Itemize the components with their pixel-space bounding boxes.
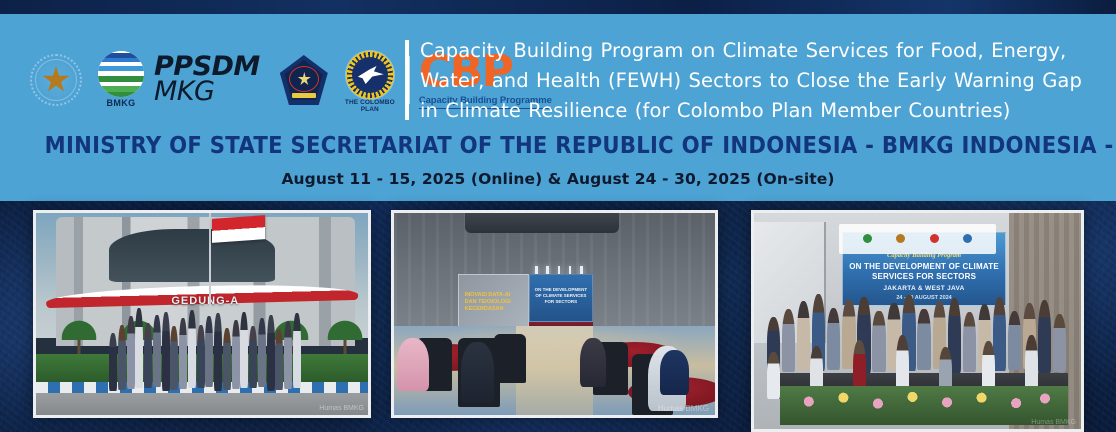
photo-watermark: Humas BMKG (658, 404, 709, 413)
organizers-line: MINISTRY OF STATE SECRETARIAT OF THE REP… (45, 133, 1072, 159)
stage-backdrop: ON THE DEVELOPMENT OF CLIMATE SERVICES F… (529, 274, 593, 322)
photo-3-content: Capacity Building Program ON THE DEVELOP… (754, 213, 1081, 429)
colombo-bird-icon (358, 66, 384, 84)
projection-screen-text: INOVASI DATA-AI DAN TEKNOLOGI KECERDASAN (465, 292, 513, 313)
photo-1-content: GEDUNG-A Humas BMKG (36, 213, 368, 415)
banner-headline: ON THE DEVELOPMENT OF CLIMATE SERVICES F… (843, 262, 1005, 282)
seated-participant (580, 338, 606, 386)
banner-headline-line2: SERVICES FOR SECTORS (872, 272, 976, 281)
bmkg-logo-label: BMKG (98, 98, 144, 108)
photo-watermark: Humas BMKG (1031, 419, 1076, 426)
banner-logo-icon (963, 234, 972, 243)
banner-location: JAKARTA & WEST JAVA (843, 285, 1005, 292)
colombo-plan-logo-icon: THE COLOMBO PLAN (344, 51, 396, 109)
banner-logo-icon (930, 234, 939, 243)
seated-participant (660, 350, 689, 394)
seated-participant (461, 342, 493, 403)
banner-logo-icon (896, 234, 905, 243)
road (36, 393, 368, 415)
ceiling-recess (465, 213, 619, 233)
group-of-participants (109, 310, 302, 391)
chair (494, 334, 526, 382)
colombo-plan-label: THE COLOMBO PLAN (341, 99, 399, 113)
bmkg-pentagon-logo-icon (280, 55, 328, 105)
stage-flower-arrangement (780, 386, 1068, 425)
bmkg-circular-logo-icon: BMKG (98, 51, 144, 109)
ppsdm-line2: MKG (154, 80, 260, 105)
banner-title: Capacity Building Program on Climate Ser… (420, 36, 1092, 126)
ppsdm-mkg-wordmark: PPSDM MKG (154, 55, 260, 105)
bmkg-disc (98, 51, 144, 97)
colombo-inner-disc (352, 57, 388, 93)
photo-group-gedung-a: GEDUNG-A Humas BMKG (33, 210, 371, 418)
photo-stage-group: Capacity Building Program ON THE DEVELOP… (751, 210, 1084, 432)
banner-logo-strip (839, 224, 996, 254)
banner-logo-icon (863, 234, 872, 243)
seated-participant (397, 338, 429, 391)
projection-screen: INOVASI DATA-AI DAN TEKNOLOGI KECERDASAN (458, 274, 529, 329)
pentagon-banner-bar (292, 93, 316, 98)
ministry-state-secretariat-seal-icon (30, 54, 82, 106)
event-banner: BMKG PPSDM MKG THE COLOMBO PLAN CBP Capa… (0, 0, 1116, 432)
title-divider-bar (405, 40, 409, 120)
building-sign: GEDUNG-A (149, 292, 262, 310)
photo-conference-hall: INOVASI DATA-AI DAN TEKNOLOGI KECERDASAN… (391, 210, 718, 418)
stage-backdrop-text: ON THE DEVELOPMENT OF CLIMATE SERVICES F… (534, 287, 589, 305)
top-dark-bar (0, 0, 1116, 14)
event-dates: August 11 - 15, 2025 (Online) & August 2… (0, 170, 1116, 188)
indonesian-flag-icon (212, 215, 265, 243)
photo-2-content: INOVASI DATA-AI DAN TEKNOLOGI KECERDASAN… (394, 213, 715, 415)
photo-watermark: Humas BMKG (319, 405, 364, 412)
banner-headline-line1: ON THE DEVELOPMENT OF CLIMATE (849, 262, 999, 271)
